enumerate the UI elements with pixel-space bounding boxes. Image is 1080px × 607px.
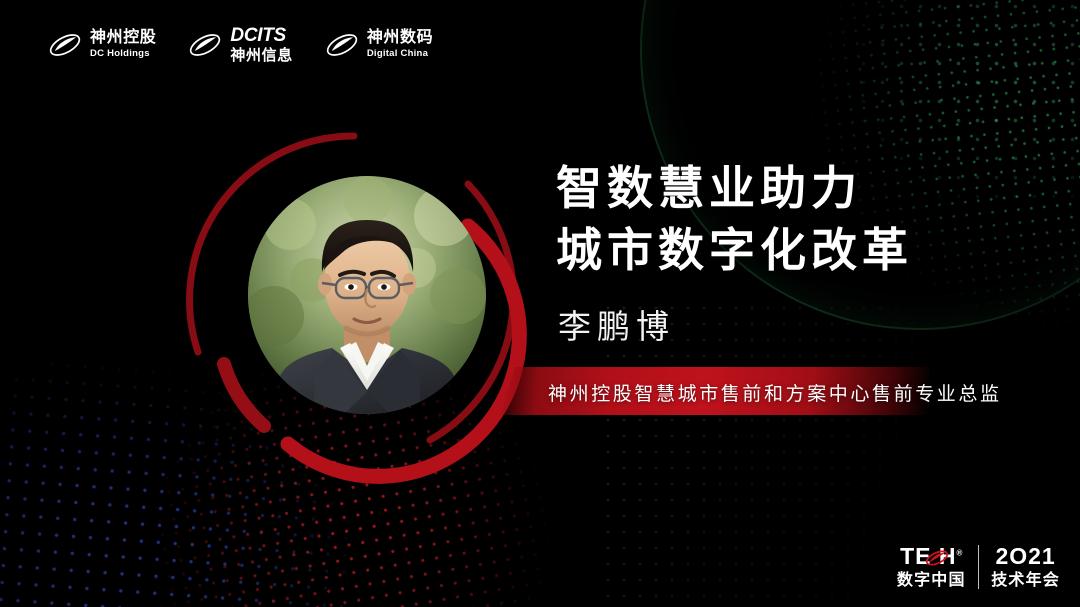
swoosh-icon <box>48 30 82 60</box>
headline-line-1: 智数慧业助力 <box>556 158 913 220</box>
event-logo-tech: TE H® 数字中国 <box>897 545 966 589</box>
swoosh-icon <box>325 30 359 60</box>
swoosh-icon <box>924 548 950 568</box>
portrait-illustration <box>248 176 486 414</box>
swoosh-icon <box>188 30 222 60</box>
event-logo-tech-cn: 数字中国 <box>897 573 966 589</box>
logo-dc-holdings-cn: 神州控股 <box>90 30 156 46</box>
event-logo-divider <box>978 545 980 589</box>
logo-digital-china-cn: 神州数码 <box>367 30 433 46</box>
event-logo-year-number: 2O21 <box>995 545 1055 568</box>
logo-dcits-brand: DCITS <box>230 26 292 45</box>
logo-dcits: DCITS 神州信息 <box>188 26 292 63</box>
event-logo: TE H® 数字中国 2O21 技术年会 <box>897 545 1060 589</box>
logo-dcits-cn: 神州信息 <box>230 48 292 63</box>
logo-digital-china-en: Digital China <box>367 49 433 59</box>
event-logo-trademark: ® <box>957 548 963 557</box>
headline-line-2: 城市数字化改革 <box>556 220 913 282</box>
speaker-title-text: 神州控股智慧城市售前和方案中心售前专业总监 <box>548 379 1002 406</box>
presentation-slide: 神州控股 DC Holdings DCITS 神州信息 神州数码 Digital… <box>0 0 1080 607</box>
logo-dc-holdings: 神州控股 DC Holdings <box>48 30 156 60</box>
page-title: 智数慧业助力 城市数字化改革 <box>556 158 913 281</box>
logo-digital-china: 神州数码 Digital China <box>325 30 433 60</box>
speaker-name: 李鹏博 <box>558 300 675 348</box>
vignette-overlay <box>0 0 1080 607</box>
speaker-portrait-photo <box>248 176 486 414</box>
logo-dc-holdings-en: DC Holdings <box>90 49 156 59</box>
event-logo-year-cn: 技术年会 <box>991 573 1060 589</box>
sponsor-logo-bar: 神州控股 DC Holdings DCITS 神州信息 神州数码 Digital… <box>48 26 465 63</box>
speaker-portrait-block <box>168 114 540 486</box>
event-logo-year: 2O21 技术年会 <box>991 545 1060 589</box>
event-logo-tech-word: TE H® <box>900 545 962 568</box>
